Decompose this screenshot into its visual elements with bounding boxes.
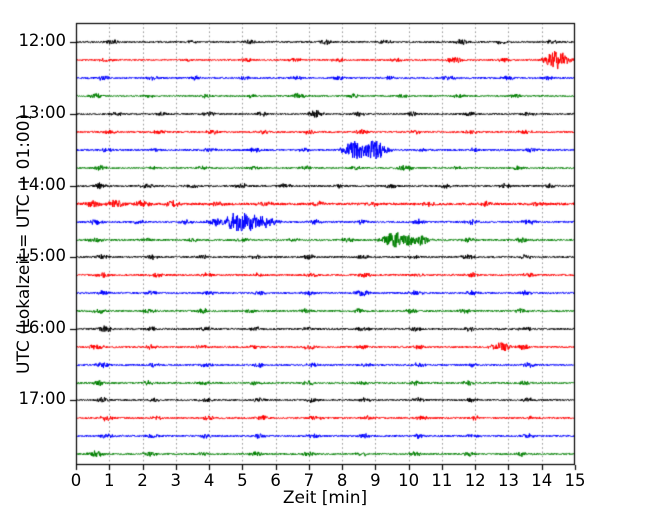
seismogram-figure: UTC (Lokalzeit = UTC + 01:00) Zeit [min]… xyxy=(0,0,650,520)
y-tick-label: 14:00 xyxy=(0,175,66,194)
x-tick-label: 15 xyxy=(555,471,595,490)
seismogram-plot-canvas xyxy=(0,0,650,520)
y-tick-label: 16:00 xyxy=(0,318,66,337)
y-tick-label: 13:00 xyxy=(0,103,66,122)
y-tick-label: 12:00 xyxy=(0,31,66,50)
y-tick-label: 15:00 xyxy=(0,246,66,265)
x-axis-label: Zeit [min] xyxy=(0,488,650,508)
y-tick-label: 17:00 xyxy=(0,389,66,408)
